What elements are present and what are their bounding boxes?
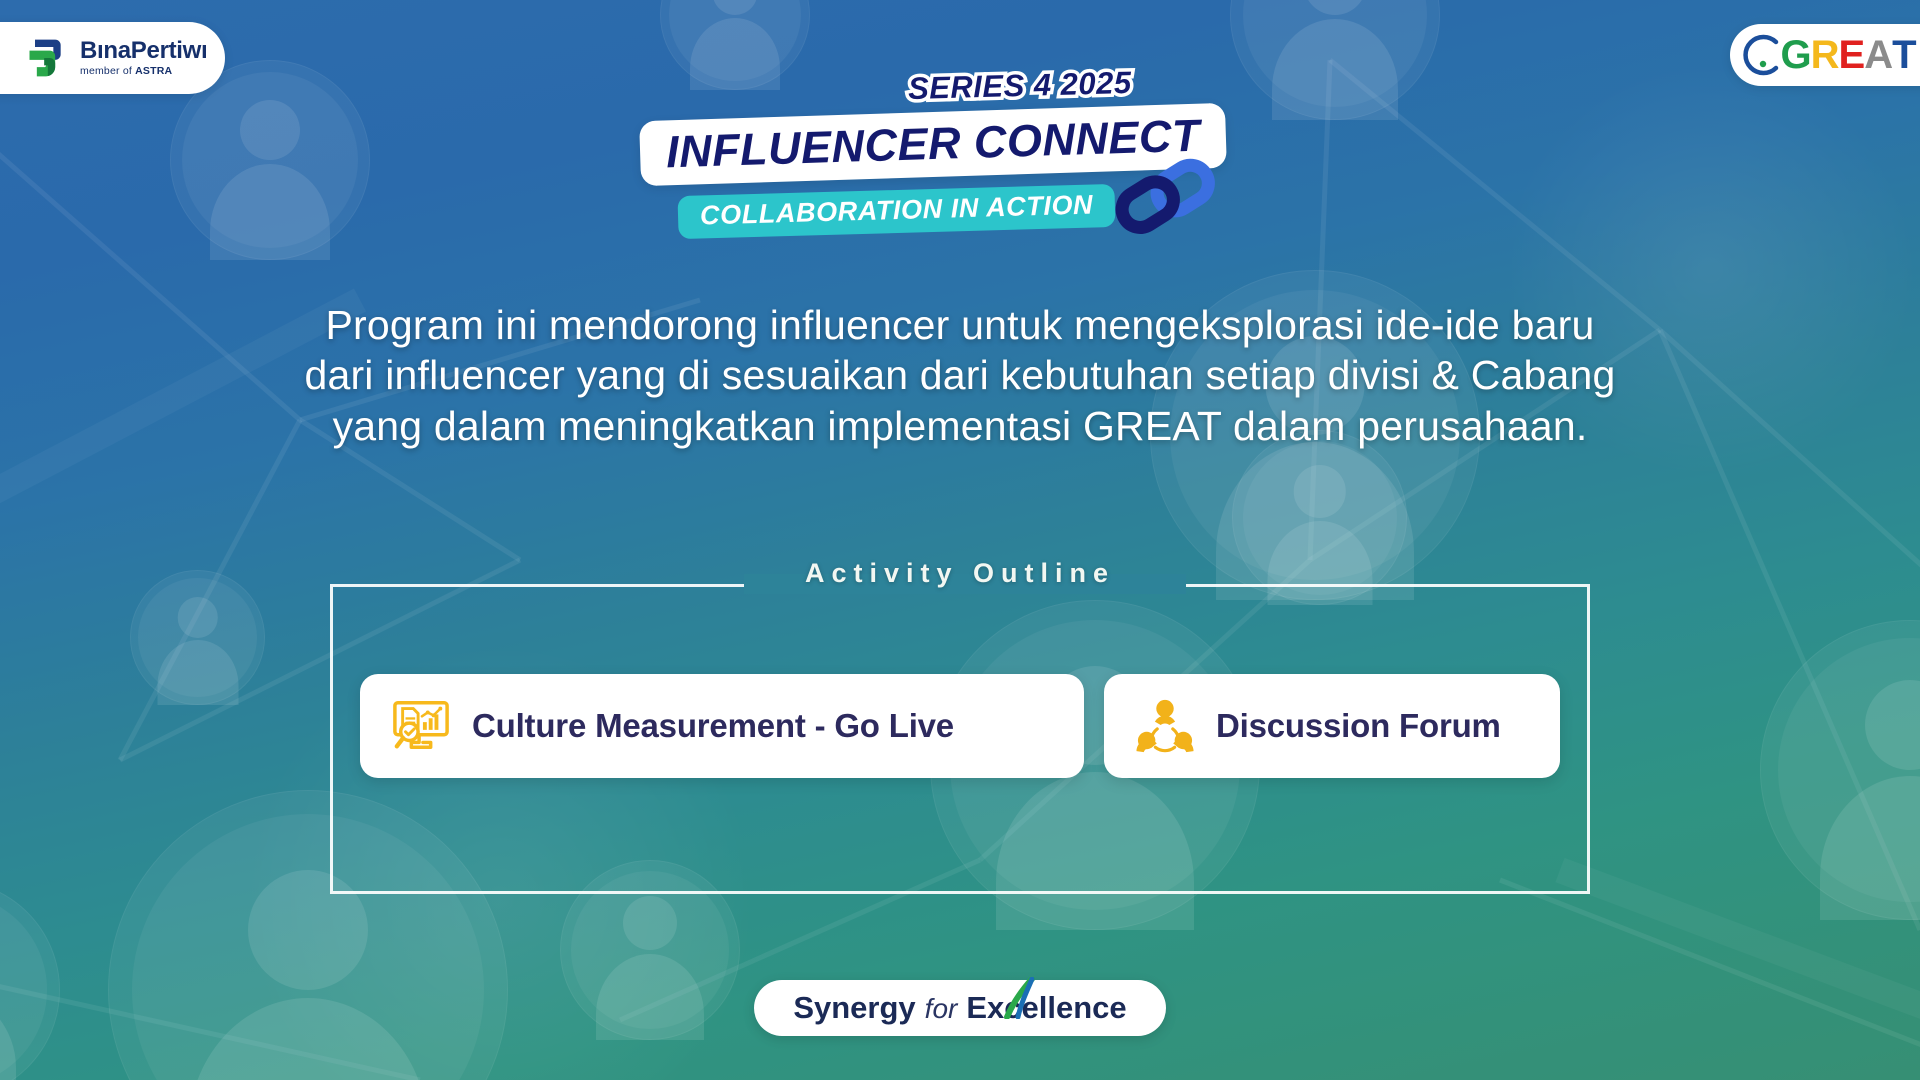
chain-link-icon bbox=[1112, 156, 1222, 236]
great-logo: GREAT bbox=[1730, 24, 1920, 86]
great-letter-a: A bbox=[1864, 35, 1892, 75]
bina-pertiwi-name: BınaPertiwı bbox=[80, 39, 207, 63]
excellence-x-wrap: x bbox=[987, 990, 1004, 1026]
green-blue-swoosh-icon bbox=[1001, 977, 1035, 1019]
activity-card-culture-measurement[interactable]: Culture Measurement - Go Live bbox=[360, 674, 1084, 778]
bina-pertiwi-leaf-mark-icon bbox=[24, 36, 68, 80]
great-circle-mark-icon bbox=[1738, 31, 1786, 79]
series-badge: SERIES 4 2025 bbox=[908, 65, 1133, 107]
great-letter-g: G bbox=[1780, 35, 1810, 75]
synergy-wordmark: Synergy for Excellence bbox=[793, 990, 1126, 1026]
lead-paragraph: Program ini mendorong influencer untuk m… bbox=[300, 300, 1620, 451]
discussion-forum-people-icon bbox=[1134, 697, 1196, 755]
activity-card-list: Culture Measurement - Go Live bbox=[360, 674, 1560, 778]
tagline-brand: ASTRA bbox=[135, 65, 172, 77]
title-group: SERIES 4 2025 INFLUENCER CONNECT COLLABO… bbox=[640, 68, 1300, 248]
great-letter-e: E bbox=[1839, 35, 1865, 75]
great-letter-r: R bbox=[1811, 35, 1839, 75]
activity-outline-title: Activity Outline bbox=[0, 558, 1920, 589]
tagline-prefix: member of bbox=[80, 65, 135, 77]
bina-pertiwi-logo: BınaPertiwı member of ASTRA bbox=[0, 22, 225, 94]
bina-pertiwi-tagline: member of ASTRA bbox=[80, 66, 207, 77]
activity-card-discussion-forum[interactable]: Discussion Forum bbox=[1104, 674, 1560, 778]
excellence-prefix: E bbox=[966, 990, 987, 1025]
activity-card-label: Culture Measurement - Go Live bbox=[472, 707, 954, 745]
great-letter-t: T bbox=[1892, 35, 1915, 75]
avatar-node bbox=[130, 570, 265, 705]
subtitle-text: COLLABORATION IN ACTION bbox=[700, 192, 1094, 230]
synergy-word: Synergy bbox=[793, 990, 915, 1026]
subtitle-badge: COLLABORATION IN ACTION bbox=[677, 184, 1115, 239]
synergy-for-excellence-badge: Synergy for Excellence bbox=[754, 980, 1166, 1036]
for-word: for bbox=[925, 993, 958, 1025]
great-wordmark: GREAT bbox=[1780, 35, 1915, 75]
culture-measurement-monitor-icon bbox=[390, 697, 452, 755]
excellence-word: Excellence bbox=[966, 990, 1126, 1026]
activity-card-label: Discussion Forum bbox=[1216, 707, 1501, 745]
slide-canvas: BınaPertiwı member of ASTRA GREAT SERIES… bbox=[0, 0, 1920, 1080]
